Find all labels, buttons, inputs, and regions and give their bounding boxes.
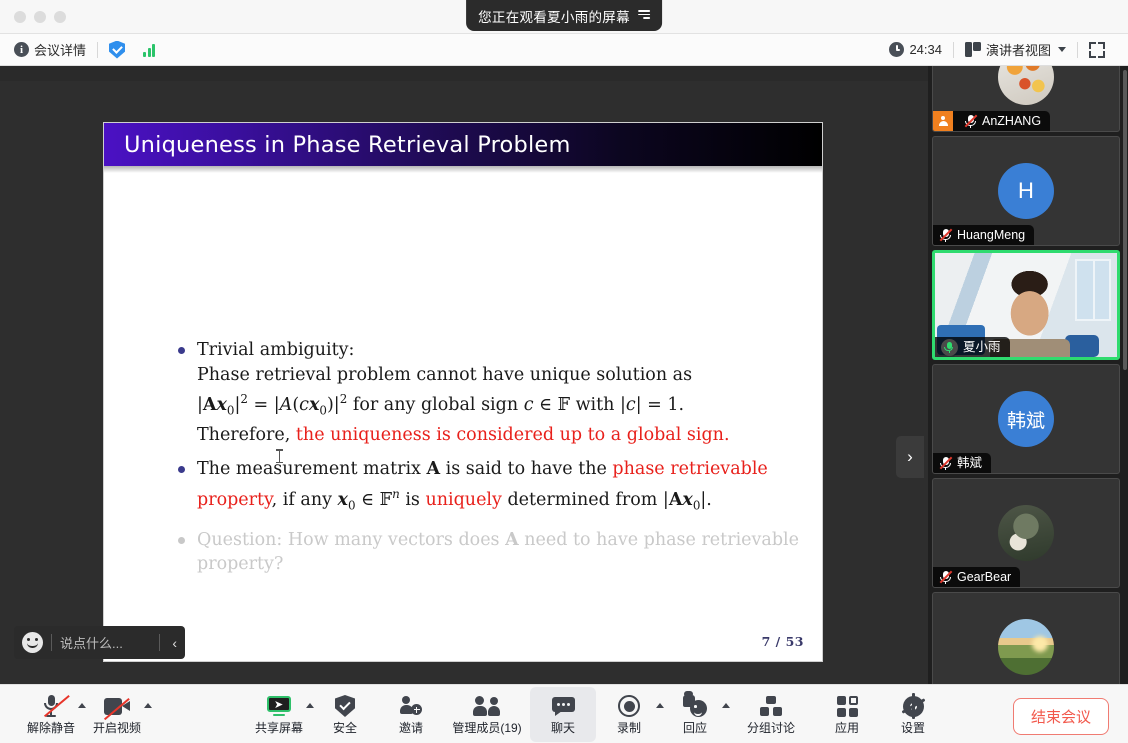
panel-collapse-toggle[interactable]: › — [896, 436, 924, 478]
participant-nameplate: HuangMeng — [933, 225, 1034, 245]
toolbar-label: 聊天 — [551, 722, 575, 734]
participant-name: AnZHANG — [982, 115, 1041, 128]
participant-nameplate: GearBear — [933, 567, 1020, 587]
participant-name: 韩斌 — [957, 457, 982, 470]
bullet-line: Question: How many vectors does A need t… — [197, 528, 818, 553]
chat-bubble-icon — [552, 694, 575, 718]
record-icon — [618, 694, 640, 718]
participant-tile-active-speaker[interactable]: 夏小雨 — [932, 250, 1120, 360]
chat-button[interactable]: 聊天 — [530, 687, 596, 742]
avatar: H — [998, 163, 1054, 219]
toolbar-label: 邀请 — [399, 722, 423, 734]
screen-share-banner[interactable]: 您正在观看夏小雨的屏幕 — [466, 0, 662, 31]
breakout-rooms-icon — [760, 694, 782, 718]
microphone-muted-icon — [939, 570, 952, 585]
encryption-status-button[interactable] — [100, 41, 134, 59]
participant-tile[interactable] — [932, 592, 1120, 684]
apps-button[interactable]: 应用 — [814, 687, 880, 742]
bullet-line: Therefore, the uniqueness is considered … — [197, 423, 818, 448]
toolbar-label: 分组讨论 — [747, 722, 795, 734]
participant-rail[interactable]: AnZHANG H HuangMeng 夏小雨 — [928, 66, 1128, 684]
bullet-line: property? — [197, 552, 818, 577]
avatar: 韩斌 — [998, 391, 1054, 447]
unmute-button[interactable]: 解除静音 — [18, 687, 84, 742]
toolbar-label: 回应 — [683, 722, 707, 734]
divider — [1077, 42, 1078, 58]
avatar — [998, 619, 1054, 675]
toolbar-label: 应用 — [835, 722, 859, 734]
info-icon: i — [14, 42, 29, 57]
divider — [159, 634, 160, 651]
reactions-icon — [683, 694, 707, 718]
toolbar-label: 管理成员(19) — [452, 722, 521, 734]
zoom-button[interactable] — [54, 11, 66, 23]
slide-page-number: 7 / 53 — [762, 634, 804, 649]
toolbar-label: 录制 — [617, 722, 641, 734]
security-button[interactable]: 安全 — [312, 687, 378, 742]
end-meeting-button[interactable]: 结束会议 — [1013, 698, 1109, 735]
bullet-line: Trivial ambiguity: — [197, 338, 818, 363]
meeting-infobar: i 会议详情 24:34 演讲者视图 — [0, 34, 1128, 66]
meeting-toolbar: 解除静音 开启视频 ➤ 共享屏幕 安全 — [0, 684, 1128, 743]
apps-grid-icon — [837, 694, 858, 718]
slide-title-bar: Uniqueness in Phase Retrieval Problem — [104, 123, 822, 166]
share-banner-label: 您正在观看夏小雨的屏幕 — [478, 6, 630, 26]
slide-title: Uniqueness in Phase Retrieval Problem — [124, 132, 571, 158]
share-screen-icon: ➤ — [267, 694, 291, 718]
presentation-slide: Uniqueness in Phase Retrieval Problem Tr… — [104, 123, 822, 661]
slide-bullet: Trivial ambiguity: Phase retrieval probl… — [178, 338, 818, 447]
shield-check-icon — [109, 41, 125, 59]
chevron-left-icon[interactable]: ‹ — [168, 635, 177, 651]
toolbar-left-group: 解除静音 开启视频 — [0, 687, 150, 742]
hamburger-dropdown-icon[interactable] — [638, 10, 650, 21]
infobar-left-group: i 会议详情 — [14, 40, 164, 59]
participant-name: GearBear — [957, 571, 1011, 584]
network-status-button[interactable] — [134, 43, 164, 57]
participants-icon — [474, 694, 500, 718]
clock-icon — [889, 42, 904, 57]
participant-nameplate: 夏小雨 — [935, 337, 1010, 357]
speaker-view-icon — [965, 42, 981, 57]
security-shield-icon — [335, 694, 355, 718]
bullet-text: Trivial ambiguity: Phase retrieval probl… — [197, 338, 818, 447]
fullscreen-button[interactable] — [1080, 42, 1114, 58]
bullet-line: property, if any x0 ∈ 𝔽n is uniquely det… — [197, 482, 818, 518]
invite-button[interactable]: 邀请 — [378, 687, 444, 742]
toolbar-label: 解除静音 — [27, 722, 75, 734]
breakout-rooms-button[interactable]: 分组讨论 — [728, 687, 814, 742]
participant-rail-scrollbar[interactable] — [1123, 70, 1127, 370]
bullet-dot-icon — [178, 347, 185, 354]
participant-tile[interactable]: AnZHANG — [932, 66, 1120, 132]
window-traffic-lights — [14, 11, 66, 23]
share-screen-button[interactable]: ➤ 共享屏幕 — [246, 687, 312, 742]
bullet-line: Phase retrieval problem cannot have uniq… — [197, 363, 818, 388]
participant-tile[interactable]: GearBear — [932, 478, 1120, 588]
microphone-muted-icon — [964, 114, 977, 129]
toolbar-label: 开启视频 — [93, 722, 141, 734]
chevron-up-icon[interactable] — [144, 703, 152, 708]
bullet-text: Question: How many vectors does A need t… — [197, 528, 818, 577]
start-video-button[interactable]: 开启视频 — [84, 687, 150, 742]
toolbar-label: 安全 — [333, 722, 357, 734]
signal-strength-icon — [143, 43, 155, 57]
microphone-muted-icon — [939, 228, 952, 243]
text-cursor-icon — [279, 449, 280, 463]
bullet-dot-icon — [178, 537, 185, 544]
close-button[interactable] — [14, 11, 26, 23]
fullscreen-icon — [1089, 42, 1105, 58]
meeting-details-label: 会议详情 — [34, 40, 86, 59]
divider — [953, 42, 954, 58]
bullet-dot-icon — [178, 466, 185, 473]
camera-off-icon — [104, 694, 130, 718]
divider — [97, 42, 98, 58]
smiley-icon[interactable] — [22, 632, 43, 653]
timer-value: 24:34 — [909, 42, 942, 57]
shared-screen-stage[interactable]: Uniqueness in Phase Retrieval Problem Tr… — [0, 66, 928, 684]
chat-input[interactable]: 说点什么... — [60, 633, 151, 652]
chevron-down-icon[interactable] — [1058, 47, 1066, 52]
settings-gear-icon — [903, 694, 924, 718]
bullet-line: The measurement matrix A is said to have… — [197, 457, 818, 482]
reactions-button[interactable]: 回应 — [662, 687, 728, 742]
stage-top-strip — [0, 66, 928, 81]
divider — [51, 634, 52, 651]
view-mode-label: 演讲者视图 — [986, 40, 1051, 59]
participant-name: 夏小雨 — [963, 341, 1001, 354]
bullet-line: |Ax0|2 = |A(cx0)|2 for any global sign c… — [197, 387, 818, 423]
record-button[interactable]: 录制 — [596, 687, 662, 742]
slide-bullet: The measurement matrix A is said to have… — [178, 457, 818, 517]
chevron-right-icon: › — [907, 447, 913, 467]
zoom-meeting-window: 您正在观看夏小雨的屏幕 i 会议详情 24:34 — [0, 0, 1128, 743]
invite-person-icon — [400, 694, 422, 718]
participant-tile[interactable]: 韩斌 韩斌 — [932, 364, 1120, 474]
settings-button[interactable]: 设置 — [880, 687, 946, 742]
chat-input-overlay[interactable]: 说点什么... ‹ — [14, 626, 185, 659]
infobar-right-group: 24:34 演讲者视图 — [889, 40, 1114, 59]
view-mode-selector[interactable]: 演讲者视图 — [956, 40, 1075, 59]
microphone-muted-icon — [44, 694, 59, 718]
toolbar-label: 共享屏幕 — [255, 722, 303, 734]
slide-bullet-dimmed: Question: How many vectors does A need t… — [178, 528, 818, 577]
avatar — [998, 66, 1054, 105]
host-badge-icon — [933, 111, 953, 131]
toolbar-center-group: ➤ 共享屏幕 安全 邀请 管理成员(19) — [246, 687, 946, 742]
minimize-button[interactable] — [34, 11, 46, 23]
participant-name: HuangMeng — [957, 229, 1025, 242]
meeting-timer: 24:34 — [889, 42, 951, 57]
microphone-active-icon — [941, 339, 958, 356]
manage-participants-button[interactable]: 管理成员(19) — [444, 687, 530, 742]
participant-nameplate: 韩斌 — [933, 453, 991, 473]
bullet-text: The measurement matrix A is said to have… — [197, 457, 818, 517]
slide-body: Trivial ambiguity: Phase retrieval probl… — [178, 338, 818, 587]
participant-tile[interactable]: H HuangMeng — [932, 136, 1120, 246]
participant-nameplate: AnZHANG — [933, 111, 1050, 131]
meeting-details-button[interactable]: i 会议详情 — [14, 40, 95, 59]
avatar — [998, 505, 1054, 561]
toolbar-label: 设置 — [901, 722, 925, 734]
microphone-muted-icon — [939, 456, 952, 471]
